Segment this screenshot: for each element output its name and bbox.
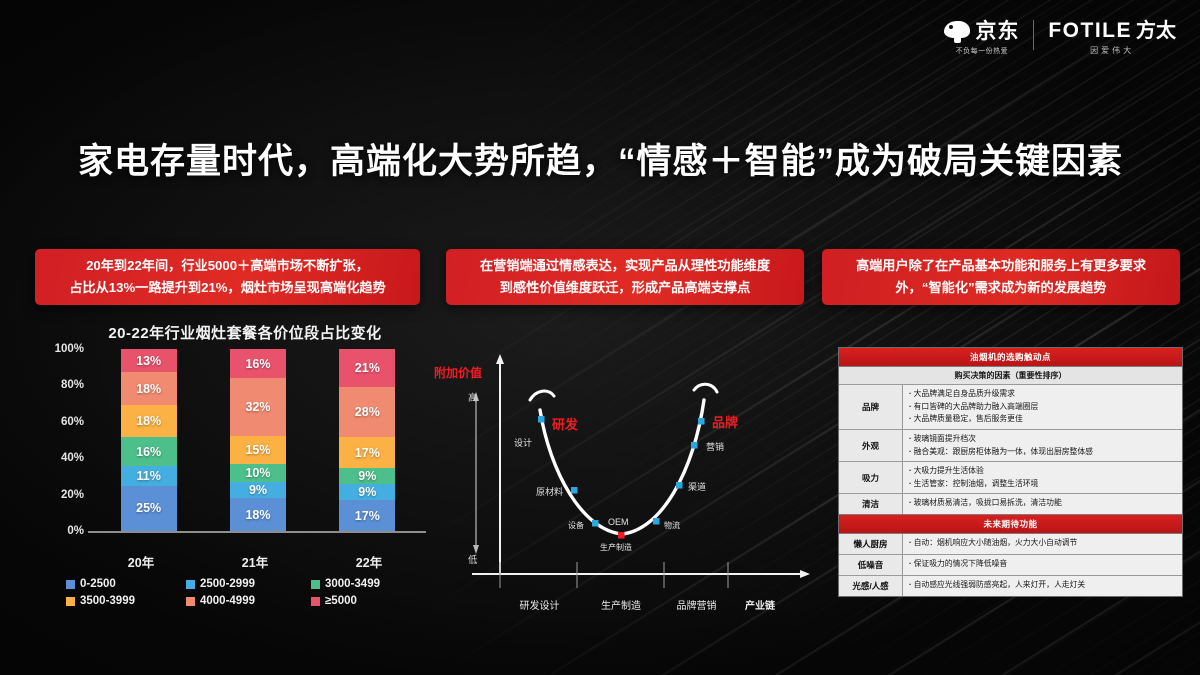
table-bullet-item: 生活管家：控制油烟，调整生活环境 — [909, 478, 1178, 491]
table-row-values: 玻璃材质易清洁，吸拢口易拆洗，清洁功能 — [903, 494, 1182, 514]
chart-y-tick: 40% — [61, 452, 84, 464]
curve-node-raw-material: 原材料 — [536, 485, 563, 498]
banner-line-1: 在营销端通过情感表达，实现产品从理性功能维度 — [480, 255, 770, 277]
banner-line-2: 到感性价值维度跃迁，形成产品高端支撑点 — [500, 277, 751, 299]
table-bullet-item: 自动：烟机响应大小随油烟，火力大小自动调节 — [909, 537, 1178, 550]
table-bullet-item: 融合美观：跟厨房柜体融为一体，体现出厨房整体感 — [909, 446, 1178, 459]
curve-node-manufacturing: 生产制造 — [600, 542, 632, 553]
chart-bar-segment: 18% — [121, 405, 177, 437]
curve-xcat-rd-design: 研发设计 — [502, 597, 577, 612]
table-bullet-item: 玻璃材质易清洁，吸拢口易拆洗，清洁功能 — [909, 497, 1178, 510]
chart-legend-item: 3000-3499 — [311, 578, 431, 590]
curve-xcat-brand-marketing: 品牌营销 — [665, 597, 728, 612]
table-row: 品牌大品牌满足自身品质升级需求有口皆碑的大品牌助力融入高端圈层大品牌质量稳定，售… — [839, 385, 1182, 430]
chart-y-tick: 100% — [55, 343, 84, 355]
curve-high-label: 高 — [468, 390, 478, 404]
chart-legend-item: 0-2500 — [66, 578, 186, 590]
chart-bar-segment: 9% — [339, 484, 395, 500]
legend-label: 4000-4999 — [200, 595, 255, 607]
purchase-factors-table: 油烟机的选购触动点 购买决策的因素（重要性排序） 品牌大品牌满足自身品质升级需求… — [838, 347, 1183, 597]
legend-label: 2500-2999 — [200, 578, 255, 590]
chart-y-tick: 20% — [61, 489, 84, 501]
chart-legend-item: 2500-2999 — [186, 578, 311, 590]
table-row: 光感/人感自动感应光线强弱防感亮起，人来灯开，人走灯关 — [839, 576, 1182, 596]
chart-bar-segment: 17% — [339, 500, 395, 531]
chart-bar-segment: 28% — [339, 387, 395, 437]
curve-highlight-brand: 品牌 — [712, 412, 738, 431]
table-bullet-item: 保证吸力的情况下降低噪音 — [909, 558, 1178, 571]
table-bullet-item: 大品牌满足自身品质升级需求 — [909, 388, 1178, 401]
table-body-future: 懒人厨房自动：烟机响应大小随油烟，火力大小自动调节低噪音保证吸力的情况下降低噪音… — [839, 534, 1182, 596]
banner-emotional-marketing: 在营销端通过情感表达，实现产品从理性功能维度 到感性价值维度跃迁，形成产品高端支… — [446, 249, 804, 305]
table-row-values: 大品牌满足自身品质升级需求有口皆碑的大品牌助力融入高端圈层大品牌质量稳定，售后服… — [903, 385, 1182, 429]
curve-x-axis-title: 产业链 — [729, 597, 791, 612]
curve-node-channel: 渠道 — [688, 480, 706, 493]
table-row: 外观玻璃镜面提升档次融合美观：跟厨房柜体融为一体，体现出厨房整体感 — [839, 430, 1182, 462]
page-title: 家电存量时代，高端化大势所趋，“情感＋智能”成为破局关键因素 — [78, 133, 1148, 184]
curve-node-logistics: 物流 — [664, 520, 680, 531]
table-row: 吸力大吸力提升生活体验生活管家：控制油烟，调整生活环境 — [839, 462, 1182, 494]
table-row-key: 吸力 — [839, 462, 903, 493]
chart-x-label: 22年 — [341, 552, 397, 571]
curve-xcat-manufacturing: 生产制造 — [578, 597, 664, 612]
chart-bar-segment: 32% — [230, 378, 286, 436]
chart-legend: 0-25002500-29993000-34993500-39994000-49… — [66, 578, 426, 607]
price-band-chart: 20-22年行业烟灶套餐各价位段占比变化 0%20%40%60%80%100% … — [36, 322, 426, 622]
curve-highlight-rd: 研发 — [552, 414, 578, 433]
banner-line-1: 20年到22年间，行业5000＋高端市场不断扩张， — [86, 255, 369, 277]
curve-node-equipment: 设备 — [568, 520, 584, 531]
curve-node-design: 设计 — [514, 436, 532, 449]
chart-bar-segment: 9% — [230, 482, 286, 498]
fotile-logo-slogan: 因爱伟大 — [1090, 45, 1134, 56]
chart-bar-segment: 16% — [230, 349, 286, 378]
fotile-logo-en: FOTILE — [1048, 19, 1132, 43]
chart-bar-segment: 16% — [121, 437, 177, 466]
table-row-key: 品牌 — [839, 385, 903, 429]
legend-swatch — [186, 597, 195, 606]
chart-y-tick: 0% — [67, 525, 84, 537]
table-row: 低噪音保证吸力的情况下降低噪音 — [839, 555, 1182, 576]
fotile-logo: FOTILE 方太 因爱伟大 — [1048, 14, 1176, 56]
chart-bar-segment: 18% — [121, 372, 177, 404]
banner-line-2: 占比从13%一路提升到21%，烟灶市场呈现高端化趋势 — [69, 277, 386, 299]
table-row: 懒人厨房自动：烟机响应大小随油烟，火力大小自动调节 — [839, 534, 1182, 555]
table-row-values: 保证吸力的情况下降低噪音 — [903, 555, 1182, 575]
legend-label: 3500-3999 — [80, 595, 135, 607]
chart-y-axis: 0%20%40%60%80%100% — [46, 349, 88, 531]
curve-node-marketing: 营销 — [706, 440, 724, 453]
table-row: 清洁玻璃材质易清洁，吸拢口易拆洗，清洁功能 — [839, 494, 1182, 514]
chart-x-label: 20年 — [113, 552, 169, 571]
table-row-key: 光感/人感 — [839, 576, 903, 596]
chart-y-tick: 60% — [61, 416, 84, 428]
table-bullet-item: 大吸力提升生活体验 — [909, 465, 1178, 478]
curve-node-oem: OEM — [608, 517, 629, 527]
chart-bar: 13%18%18%16%11%25% — [121, 349, 177, 531]
jd-logo-slogan: 不负每一份热爱 — [956, 46, 1009, 56]
chart-bar: 16%32%15%10%9%18% — [230, 349, 286, 531]
table-bullet-item: 玻璃镜面提升档次 — [909, 433, 1178, 446]
chart-title: 20-22年行业烟灶套餐各价位段占比变化 — [64, 322, 426, 343]
table-body-primary: 品牌大品牌满足自身品质升级需求有口皆碑的大品牌助力融入高端圈层大品牌质量稳定，售… — [839, 385, 1182, 514]
table-section-future: 未来期待功能 — [839, 514, 1182, 534]
banner-line-1: 高端用户除了在产品基本功能和服务上有更多要求 — [856, 255, 1146, 277]
banner-smart-demand: 高端用户除了在产品基本功能和服务上有更多要求 外，“智能化”需求成为新的发展趋势 — [822, 249, 1180, 305]
table-row-values: 自动感应光线强弱防感亮起，人来灯开，人走灯关 — [903, 576, 1182, 596]
chart-bar: 21%28%17%9%9%17% — [339, 349, 395, 531]
smile-curve-diagram: 附加价值 — [432, 352, 822, 614]
logo-divider — [1033, 20, 1034, 50]
fotile-logo-cn: 方太 — [1136, 14, 1176, 43]
legend-label: 3000-3499 — [325, 578, 380, 590]
curve-low-label: 低 — [468, 552, 478, 566]
table-row-values: 玻璃镜面提升档次融合美观：跟厨房柜体融为一体，体现出厨房整体感 — [903, 430, 1182, 461]
table-row-key: 低噪音 — [839, 555, 903, 575]
table-row-key: 懒人厨房 — [839, 534, 903, 554]
slide-root: 京东 不负每一份热爱 FOTILE 方太 因爱伟大 家电存量时代，高端化大势所趋… — [0, 0, 1200, 675]
chart-legend-item: 3500-3999 — [66, 595, 186, 607]
legend-label: 0-2500 — [80, 578, 116, 590]
chart-bar-segment: 18% — [230, 498, 286, 531]
logo-bar: 京东 不负每一份热爱 FOTILE 方太 因爱伟大 — [944, 14, 1176, 56]
chart-x-labels: 20年21年22年 — [84, 552, 426, 571]
legend-swatch — [311, 580, 320, 589]
chart-y-tick: 80% — [61, 379, 84, 391]
table-bullet-item: 有口皆碑的大品牌助力融入高端圈层 — [909, 401, 1178, 414]
legend-swatch — [186, 580, 195, 589]
table-row-values: 大吸力提升生活体验生活管家：控制油烟，调整生活环境 — [903, 462, 1182, 493]
banner-line-2: 外，“智能化”需求成为新的发展趋势 — [896, 277, 1107, 299]
chart-bar-segment: 13% — [121, 349, 177, 372]
chart-legend-item: 4000-4999 — [186, 595, 311, 607]
banner-market-expansion: 20年到22年间，行业5000＋高端市场不断扩张， 占比从13%一路提升到21%… — [35, 249, 420, 305]
table-row-key: 外观 — [839, 430, 903, 461]
table-header: 油烟机的选购触动点 — [839, 348, 1182, 367]
jd-logo-name: 京东 — [975, 15, 1019, 45]
table-bullet-item: 大品牌质量稳定，售后服务更佳 — [909, 413, 1178, 426]
table-subheader: 购买决策的因素（重要性排序） — [839, 367, 1182, 385]
chart-bar-segment: 10% — [230, 464, 286, 482]
chart-x-label: 21年 — [227, 552, 283, 571]
table-row-values: 自动：烟机响应大小随油烟，火力大小自动调节 — [903, 534, 1182, 554]
table-bullet-item: 自动感应光线强弱防感亮起，人来灯开，人走灯关 — [909, 579, 1178, 592]
chart-bar-segment: 25% — [121, 486, 177, 531]
chart-bar-segment: 21% — [339, 349, 395, 387]
legend-swatch — [66, 580, 75, 589]
jd-logo: 京东 不负每一份热爱 — [944, 15, 1019, 56]
curve-svg — [432, 352, 822, 614]
legend-label: ≥5000 — [325, 595, 357, 607]
chart-plot-area: 0%20%40%60%80%100% 13%18%18%16%11%25%16%… — [46, 349, 426, 545]
legend-swatch — [311, 597, 320, 606]
chart-legend-item: ≥5000 — [311, 595, 431, 607]
table-row-key: 清洁 — [839, 494, 903, 514]
jd-dog-icon — [944, 21, 970, 38]
chart-bar-segment: 11% — [121, 466, 177, 486]
chart-bars-area: 13%18%18%16%11%25%16%32%15%10%9%18%21%28… — [94, 349, 422, 531]
chart-bar-segment: 9% — [339, 468, 395, 484]
chart-x-axis-line — [88, 531, 426, 533]
chart-bar-segment: 15% — [230, 436, 286, 463]
legend-swatch — [66, 597, 75, 606]
chart-bar-segment: 17% — [339, 437, 395, 468]
